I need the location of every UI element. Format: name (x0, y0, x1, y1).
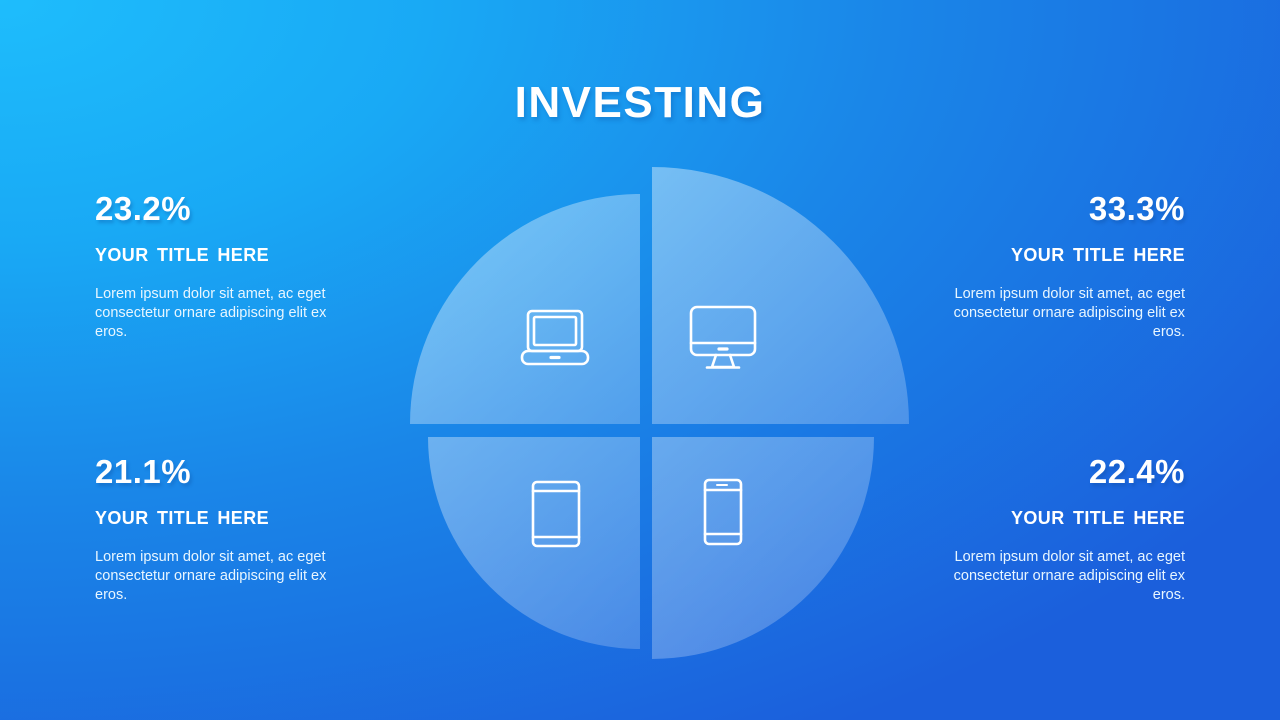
percentage-top-left: 23.2% (95, 192, 340, 227)
title-bottom-right: YOUR TITLE HERE (940, 508, 1185, 529)
segment-info-top-left: 23.2% YOUR TITLE HERE Lorem ipsum dolor … (95, 192, 340, 342)
tablet-icon (528, 478, 584, 550)
title-top-right: YOUR TITLE HERE (940, 245, 1185, 266)
page-title: INVESTING (0, 78, 1280, 128)
percentage-top-right: 33.3% (940, 192, 1185, 227)
smartphone-icon (699, 476, 747, 548)
body-top-left: Lorem ipsum dolor sit amet, ac eget cons… (95, 285, 340, 342)
title-top-left: YOUR TITLE HERE (95, 245, 340, 266)
pie-segment-top-right[interactable] (652, 167, 909, 424)
segment-info-bottom-left: 21.1% YOUR TITLE HERE Lorem ipsum dolor … (95, 455, 340, 605)
pie-segment-bottom-right[interactable] (652, 437, 874, 659)
laptop-icon (518, 305, 592, 371)
percentage-bottom-left: 21.1% (95, 455, 340, 490)
title-bottom-left: YOUR TITLE HERE (95, 508, 340, 529)
body-top-right: Lorem ipsum dolor sit amet, ac eget cons… (940, 285, 1185, 342)
body-bottom-right: Lorem ipsum dolor sit amet, ac eget cons… (940, 548, 1185, 605)
percentage-bottom-right: 22.4% (940, 455, 1185, 490)
quadrant-pie-chart (390, 160, 910, 660)
segment-info-top-right: 33.3% YOUR TITLE HERE Lorem ipsum dolor … (940, 192, 1185, 342)
body-bottom-left: Lorem ipsum dolor sit amet, ac eget cons… (95, 548, 340, 605)
segment-info-bottom-right: 22.4% YOUR TITLE HERE Lorem ipsum dolor … (940, 455, 1185, 605)
desktop-monitor-icon (686, 303, 760, 373)
